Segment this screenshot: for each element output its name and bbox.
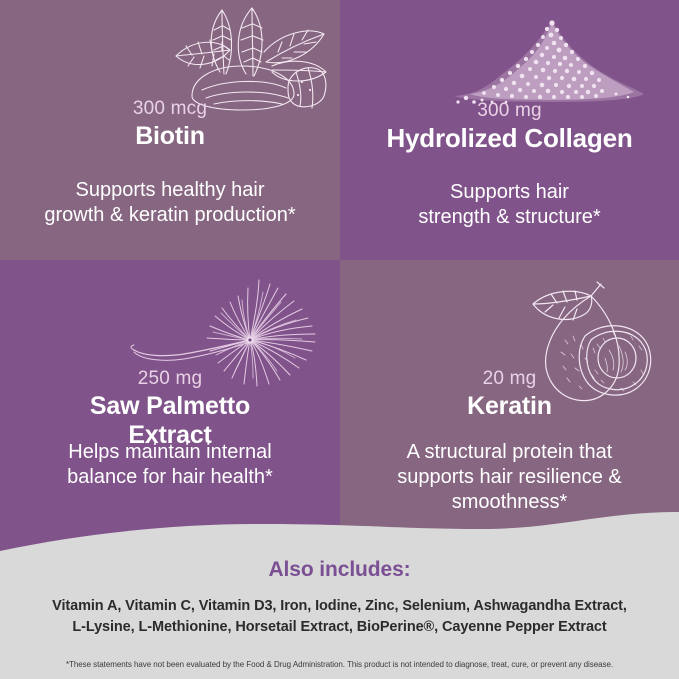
collagen-description-line-2: strength & structure*	[340, 205, 679, 230]
biotin-description-line-2: growth & keratin production*	[0, 203, 340, 228]
biotin-description-line-1: Supports healthy hair	[0, 178, 340, 203]
ingredients-line-1: Vitamin A, Vitamin C, Vitamin D3, Iron, …	[0, 596, 679, 617]
keratin-description-line-3: smoothness*	[340, 490, 679, 515]
keratin-description-line-1: A structural protein that	[340, 440, 679, 465]
collagen-description: Supports hair strength & structure*	[340, 180, 679, 230]
ingredient-panel-hydrolized-collagen: 300 mg Hydrolized Collagen Supports hair…	[340, 0, 679, 260]
collagen-dose: 300 mg	[340, 100, 679, 122]
saw-palmetto-description: Helps maintain internal balance for hair…	[0, 440, 340, 490]
collagen-heading: 300 mg Hydrolized Collagen	[340, 100, 679, 154]
biotin-heading: 300 mcg Biotin	[0, 98, 340, 151]
also-includes-footer: Also includes: Vitamin A, Vitamin C, Vit…	[0, 528, 679, 679]
keratin-dose: 20 mg	[340, 368, 679, 390]
keratin-heading: 20 mg Keratin	[340, 368, 679, 421]
also-includes-title: Also includes:	[0, 558, 679, 582]
saw-palmetto-description-line-1: Helps maintain internal	[0, 440, 340, 465]
biotin-name: Biotin	[0, 122, 340, 151]
keratin-description-line-2: supports hair resilience &	[340, 465, 679, 490]
collagen-name: Hydrolized Collagen	[340, 124, 679, 154]
saw-palmetto-description-line-2: balance for hair health*	[0, 465, 340, 490]
saw-palmetto-heading: 250 mg Saw Palmetto Extract	[0, 368, 340, 449]
almond-leaves-icon	[168, 0, 328, 112]
fda-disclaimer: *These statements have not been evaluate…	[0, 660, 679, 669]
powder-mound-icon	[448, 14, 648, 106]
biotin-description: Supports healthy hair growth & keratin p…	[0, 178, 340, 228]
ingredients-line-2: L-Lysine, L-Methionine, Horsetail Extrac…	[0, 617, 679, 638]
keratin-description: A structural protein that supports hair …	[340, 440, 679, 514]
saw-palmetto-name-line-1: Saw Palmetto	[0, 392, 340, 421]
keratin-name: Keratin	[340, 392, 679, 421]
ingredient-panel-biotin: 300 mcg Biotin Supports healthy hair gro…	[0, 0, 340, 260]
collagen-description-line-1: Supports hair	[340, 180, 679, 205]
saw-palmetto-dose: 250 mg	[0, 368, 340, 390]
supplement-ingredient-infographic: 300 mcg Biotin Supports healthy hair gro…	[0, 0, 679, 679]
biotin-dose: 300 mcg	[0, 98, 340, 120]
